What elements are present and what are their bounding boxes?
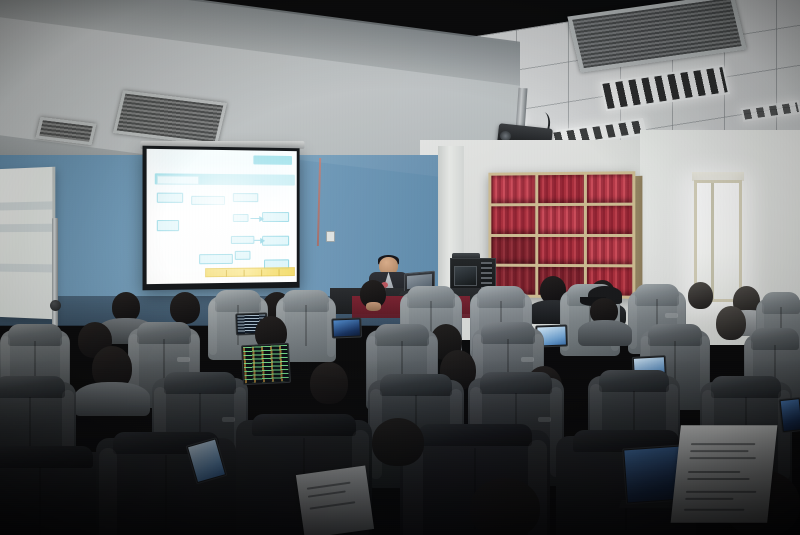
laptop-lid <box>779 397 800 433</box>
window-mullion <box>711 183 714 299</box>
laptop-edge-right <box>779 397 800 433</box>
slide-arrow-icon <box>254 240 261 241</box>
lecture-hall-photo: Lecture hall during a technical presenta… <box>0 0 800 535</box>
laptop-lid <box>241 343 291 385</box>
shelf-cell <box>539 206 584 234</box>
projection-screen-surface <box>147 149 297 284</box>
person-head <box>310 362 348 404</box>
shelf-cell <box>587 174 633 202</box>
slide-footer-bar <box>205 267 295 277</box>
person-head <box>716 306 746 340</box>
shelf-cell <box>539 236 584 264</box>
person-head <box>688 282 713 309</box>
whiteboard-streak <box>0 224 52 232</box>
whiteboard-streak <box>0 264 52 273</box>
slide-box <box>235 251 251 260</box>
shelf-cell <box>539 175 584 203</box>
whiteboard <box>0 167 55 320</box>
slide-logo <box>253 155 292 164</box>
auditorium-seat <box>0 452 110 535</box>
projection-screen <box>143 146 300 291</box>
laptop-screen <box>781 399 800 431</box>
whiteboard-streak <box>0 201 52 210</box>
printed-handout-right <box>671 425 778 522</box>
person-head <box>470 478 540 535</box>
person-neck <box>366 302 381 311</box>
slide-box <box>262 212 289 222</box>
slide-box <box>191 196 225 205</box>
slide-box <box>231 236 254 244</box>
person-shoulders <box>74 382 150 416</box>
person-shoulders <box>578 320 632 346</box>
slide-box <box>199 254 233 264</box>
laptop-screen <box>333 320 360 337</box>
laptop-open-blue <box>331 317 362 338</box>
laptop-screen <box>243 345 289 383</box>
person-head <box>170 292 200 324</box>
shelf-cell <box>491 236 535 264</box>
slide-box <box>262 236 289 246</box>
slide-box <box>157 193 183 203</box>
shelf-cell <box>587 237 633 265</box>
shelf-cell <box>491 175 535 203</box>
whiteboard-knob <box>50 300 61 311</box>
av-monitor-icon <box>454 266 477 286</box>
shelf-cell <box>491 206 535 234</box>
wall-socket <box>326 231 335 242</box>
shelf-cell <box>587 205 633 233</box>
slide-box <box>233 214 249 222</box>
laptop-lid <box>331 317 362 338</box>
slide-title-bar <box>155 173 295 185</box>
slide-box <box>233 193 258 202</box>
person-head <box>372 418 424 466</box>
slide-box <box>157 220 179 231</box>
laptop-open-code <box>241 343 291 385</box>
printed-handout-center <box>296 465 374 535</box>
slide-arrow-icon <box>250 218 260 219</box>
